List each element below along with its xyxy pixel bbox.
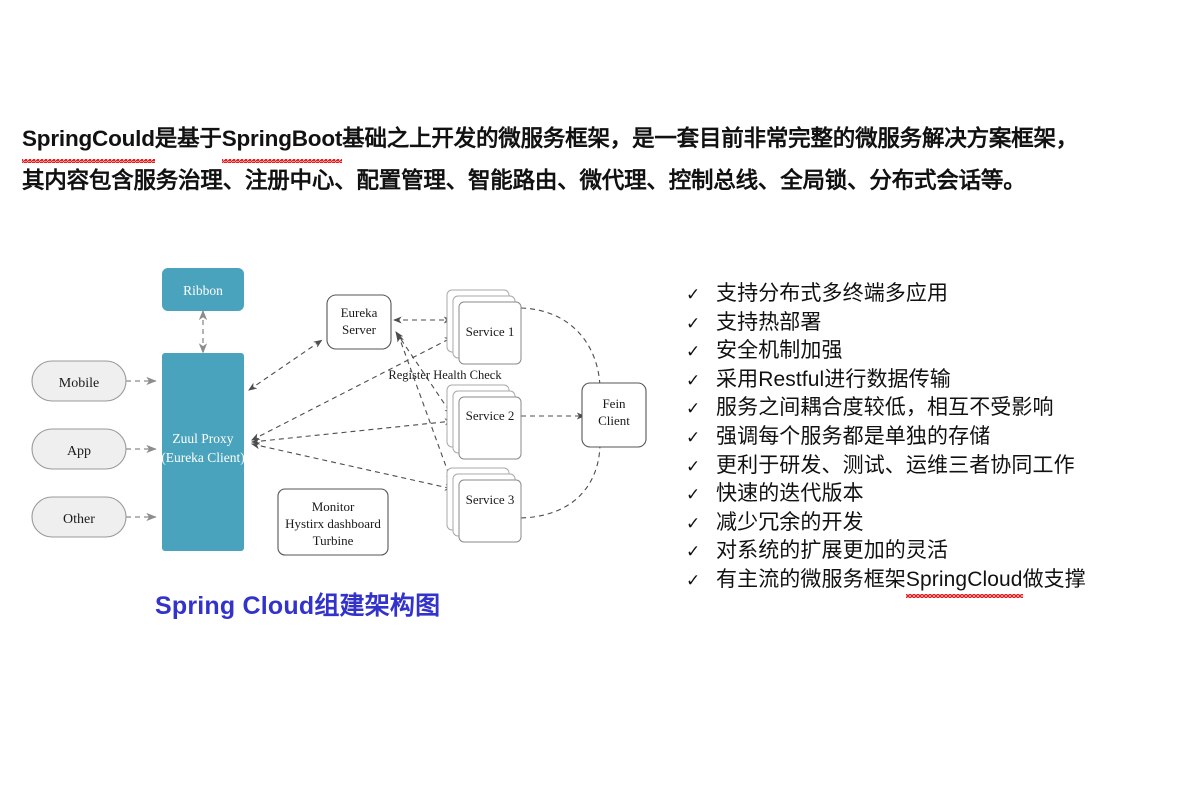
heading-line-2: 其内容包含服务治理、注册中心、配置管理、智能路由、微代理、控制总线、全局锁、分布… <box>22 160 1182 202</box>
edge-zuul-service2 <box>252 421 453 442</box>
client-edges <box>126 381 156 517</box>
list-item[interactable]: ✓ 有主流的微服务框架SpringCloud做支撑 <box>686 566 1186 595</box>
list-item-label: 对系统的扩展更加的灵活 <box>716 537 948 566</box>
heading-line-1: SpringCould是基于SpringBoot基础之上开发的微服务框架，是一套… <box>22 118 1182 160</box>
list-item-label: 支持分布式多终端多应用 <box>716 280 948 309</box>
service-stack-front <box>459 480 521 542</box>
list-item-label: 更利于研发、测试、运维三者协同工作 <box>716 452 1075 481</box>
diagram-canvas: Mobile App Other Ribbon Zuul Proxy (Eure… <box>0 240 680 580</box>
list-item-label: 服务之间耦合度较低，相互不受影响 <box>716 394 1054 423</box>
fein-label-line1: Fein <box>602 396 626 411</box>
list-item-label: 强调每个服务都是单独的存储 <box>716 423 990 452</box>
monitor-label-line2: Hystirx dashboard <box>285 516 381 531</box>
heading-paragraph: SpringCould是基于SpringBoot基础之上开发的微服务框架，是一套… <box>22 118 1182 202</box>
list-item-label: 支持热部署 <box>716 309 822 338</box>
list-item-label: 采用Restful进行数据传输 <box>716 366 951 395</box>
list-item-label: 快速的迭代版本 <box>716 480 864 509</box>
list-item[interactable]: ✓ 安全机制加强 <box>686 337 1186 366</box>
list-item[interactable]: ✓ 减少冗余的开发 <box>686 509 1186 538</box>
client-node-mobile[interactable]: Mobile <box>32 361 126 401</box>
heading-term-springcould: SpringCould <box>22 118 155 160</box>
service-stack-front <box>459 397 521 459</box>
edge-zuul-service3 <box>252 444 453 489</box>
architecture-diagram: Mobile App Other Ribbon Zuul Proxy (Eure… <box>0 240 680 580</box>
edge-zuul-eureka <box>249 340 322 390</box>
service-node-1[interactable]: Service 1 <box>447 290 521 364</box>
list-item[interactable]: ✓ 支持分布式多终端多应用 <box>686 280 1186 309</box>
fein-label-line2: Client <box>598 413 630 428</box>
ribbon-node[interactable]: Ribbon <box>162 268 244 311</box>
client-node-app[interactable]: App <box>32 429 126 469</box>
monitor-node[interactable]: Monitor Hystirx dashboard Turbine <box>278 489 388 555</box>
client-label-mobile: Mobile <box>59 376 99 391</box>
list-item[interactable]: ✓ 服务之间耦合度较低，相互不受影响 <box>686 394 1186 423</box>
list-item-label: 减少冗余的开发 <box>716 509 864 538</box>
list-item[interactable]: ✓ 快速的迭代版本 <box>686 480 1186 509</box>
list-item[interactable]: ✓ 采用Restful进行数据传输 <box>686 366 1186 395</box>
eureka-label-line2: Server <box>342 322 377 337</box>
check-icon: ✓ <box>686 310 716 339</box>
edge-eureka-service3 <box>398 334 452 483</box>
heading-line1-seg-4: 基础之上开发的微服务框架，是一套目前非常完整的微服务解决方案框架， <box>342 126 1078 151</box>
monitor-label-line1: Monitor <box>312 499 355 514</box>
check-icon: ✓ <box>686 567 716 596</box>
service-label-2: Service 2 <box>466 408 515 423</box>
service-label-1: Service 1 <box>466 324 515 339</box>
check-icon: ✓ <box>686 395 716 424</box>
fein-client-node[interactable]: Fein Client <box>582 383 646 447</box>
ribbon-label: Ribbon <box>183 283 223 298</box>
client-node-other[interactable]: Other <box>32 497 126 537</box>
check-icon: ✓ <box>686 424 716 453</box>
service-node-2[interactable]: Service 2 <box>447 385 521 459</box>
diagram-caption: Spring Cloud组建架构图 <box>155 586 440 622</box>
client-label-other: Other <box>63 512 95 527</box>
eureka-label-line1: Eureka <box>341 305 378 320</box>
check-icon: ✓ <box>686 481 716 510</box>
list-item-label-last: 有主流的微服务框架SpringCloud做支撑 <box>716 566 1086 595</box>
zuul-label-line2: (Eureka Client) <box>161 450 245 465</box>
edge-service1-fein <box>521 308 600 390</box>
zuul-proxy-node[interactable]: Zuul Proxy (Eureka Client) <box>161 353 245 551</box>
service-node-3[interactable]: Service 3 <box>447 468 521 542</box>
check-icon: ✓ <box>686 510 716 539</box>
heading-line1-seg-2: 是基于 <box>155 126 222 151</box>
list-item[interactable]: ✓ 强调每个服务都是单独的存储 <box>686 423 1186 452</box>
heading-line2-seg-1: 其内容包含服务治理、注册中心、配置管理、智能路由、微代理、控制总线、全局锁、分布… <box>22 168 1026 193</box>
list-item[interactable]: ✓ 更利于研发、测试、运维三者协同工作 <box>686 452 1186 481</box>
feature-list: ✓ 支持分布式多终端多应用 ✓ 支持热部署 ✓ 安全机制加强 ✓ 采用Restf… <box>686 280 1186 595</box>
check-icon: ✓ <box>686 367 716 396</box>
check-icon: ✓ <box>686 281 716 310</box>
list-item[interactable]: ✓ 支持热部署 <box>686 309 1186 338</box>
edge-label-register-health-check: Register Health Check <box>388 368 502 382</box>
list-item-label: 安全机制加强 <box>716 337 843 366</box>
check-icon: ✓ <box>686 453 716 482</box>
service-label-3: Service 3 <box>466 492 515 507</box>
edge-service3-fein <box>521 443 600 518</box>
client-label-app: App <box>67 444 91 459</box>
heading-term-springboot: SpringBoot <box>222 118 342 160</box>
check-icon: ✓ <box>686 338 716 367</box>
zuul-label-line1: Zuul Proxy <box>172 431 233 446</box>
eureka-server-node[interactable]: Eureka Server <box>327 295 391 349</box>
list-item[interactable]: ✓ 对系统的扩展更加的灵活 <box>686 537 1186 566</box>
monitor-label-line3: Turbine <box>313 533 354 548</box>
list-item-term-springcloud: SpringCloud <box>906 566 1023 595</box>
check-icon: ✓ <box>686 538 716 567</box>
